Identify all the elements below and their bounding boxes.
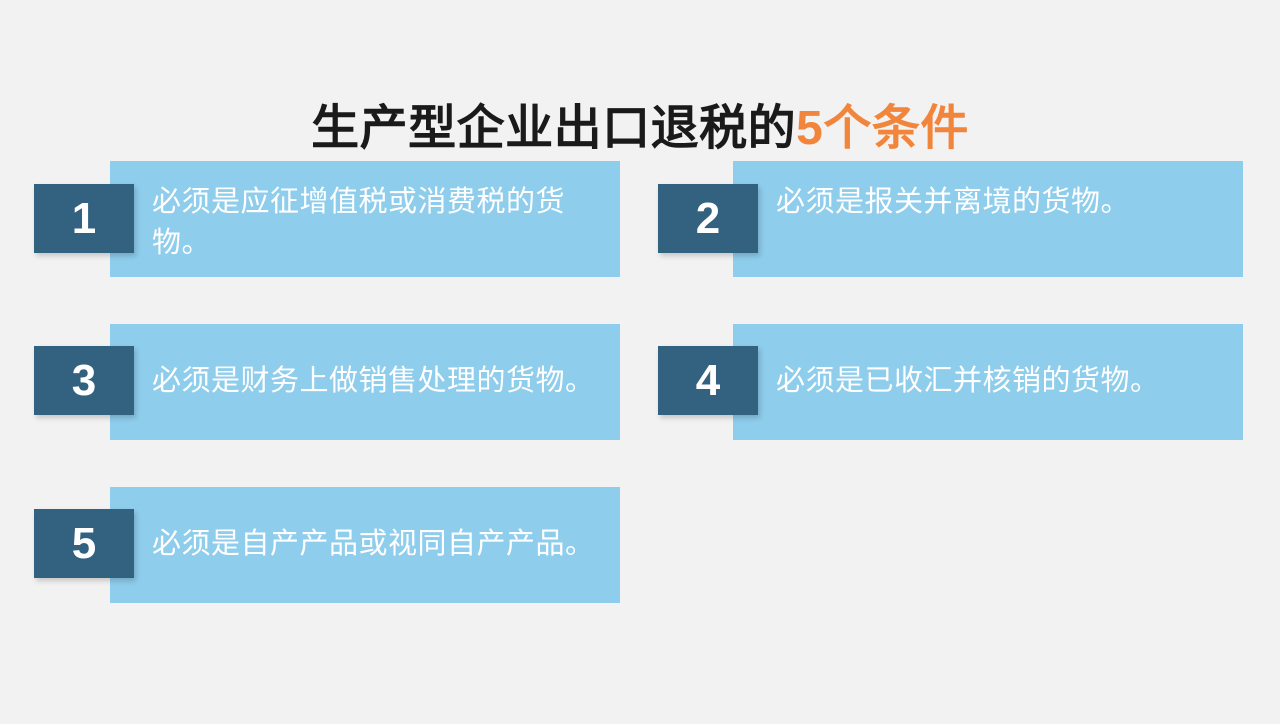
page-title: 生产型企业出口退税的5个条件: [0, 98, 1280, 160]
slide-canvas: 生产型企业出口退税的5个条件 1 必须是应征增值税或消费税的货物。 2 必须是报…: [0, 0, 1280, 724]
item-text: 必须是报关并离境的货物。: [776, 182, 1238, 223]
item-text: 必须是自产产品或视同自产产品。: [152, 524, 614, 565]
item-text: 必须是已收汇并核销的货物。: [776, 361, 1238, 402]
page-title-main: 生产型企业出口退税的: [311, 102, 796, 155]
item-number-badge: 2: [658, 184, 758, 253]
item-number-badge: 4: [658, 346, 758, 415]
item-number-badge: 3: [34, 346, 134, 415]
item-text: 必须是财务上做销售处理的货物。: [152, 361, 614, 402]
item-number-badge: 1: [34, 184, 134, 253]
item-number-badge: 5: [34, 509, 134, 578]
page-title-accent: 5个条件: [796, 102, 969, 155]
item-text: 必须是应征增值税或消费税的货物。: [152, 182, 614, 264]
